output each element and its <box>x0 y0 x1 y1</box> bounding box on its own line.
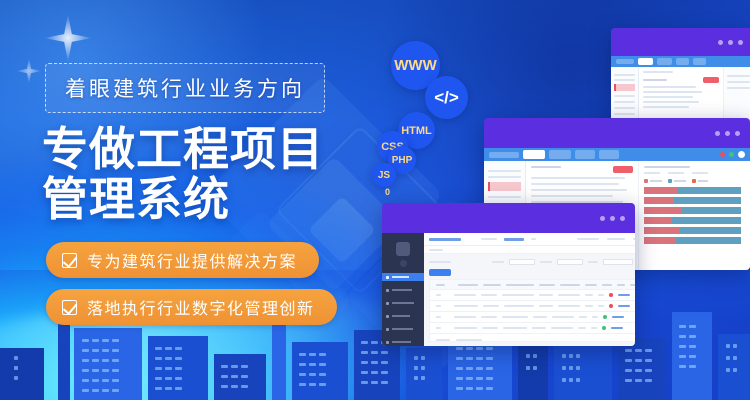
app-logo-chip <box>489 152 519 158</box>
status-badge <box>603 315 607 319</box>
avatar[interactable] <box>738 151 745 158</box>
bubble-code-label: </> <box>434 88 459 108</box>
app-topbar[interactable] <box>484 148 750 161</box>
breadcrumb <box>424 246 635 254</box>
tab-active[interactable] <box>638 58 653 65</box>
sidebar-item-active[interactable] <box>614 84 635 91</box>
table-header-row <box>430 280 635 290</box>
window-dot <box>728 40 733 45</box>
window-dot <box>610 216 615 221</box>
hero-copy: 着眼建筑行业业务方向 专做工程项目 管理系统 专为建筑行业提供解决方案 落地执行… <box>0 0 400 400</box>
primary-action-button[interactable] <box>703 77 719 83</box>
primary-action-button[interactable] <box>613 166 633 173</box>
window-dot <box>600 216 605 221</box>
dashboard-screenshot-front[interactable] <box>382 203 635 346</box>
tab-item[interactable] <box>549 150 571 159</box>
bubble-code-icon: </> <box>425 76 468 119</box>
filter-select[interactable] <box>557 259 583 265</box>
headline-line-2: 管理系统 <box>42 174 372 224</box>
tab-active[interactable] <box>523 150 545 159</box>
app-topbar[interactable] <box>611 56 750 67</box>
table-row[interactable] <box>430 290 635 301</box>
tab-item[interactable] <box>575 150 595 159</box>
row-action-link[interactable] <box>611 327 623 329</box>
feature-pill[interactable]: 落地执行行业数字化管理创新 <box>46 289 337 325</box>
status-badge <box>602 326 606 330</box>
status-badge <box>609 293 613 297</box>
bubble-www-label: WWW <box>394 57 436 74</box>
chart-legend <box>644 179 745 183</box>
window-title-bar <box>484 118 750 148</box>
window-dot <box>725 131 730 136</box>
tab-item[interactable] <box>599 150 619 159</box>
feature-pill[interactable]: 专为建筑行业提供解决方案 <box>46 242 319 278</box>
tab-item[interactable] <box>676 58 689 65</box>
table-row[interactable] <box>430 312 635 323</box>
window-title-bar <box>382 203 635 233</box>
table-footer[interactable] <box>430 334 635 342</box>
status-badge <box>609 304 613 308</box>
app-window <box>382 233 635 346</box>
headline-line-1: 专做工程项目 <box>42 124 372 174</box>
toolbar[interactable] <box>424 269 635 279</box>
tagline-text: 着眼建筑行业业务方向 <box>65 73 305 103</box>
bubble-html-label: HTML <box>401 125 432 137</box>
window-dot <box>715 131 720 136</box>
table-row[interactable] <box>430 301 635 312</box>
row-action-link[interactable] <box>618 294 630 296</box>
app-logo-chip <box>616 59 634 64</box>
checkbox-check-icon <box>62 300 77 315</box>
feature-pill-list: 专为建筑行业提供解决方案 落地执行行业数字化管理创新 <box>46 242 337 336</box>
app-chart-panel <box>638 161 750 270</box>
tab-item[interactable] <box>693 58 706 65</box>
window-dot <box>738 40 743 45</box>
app-main <box>424 233 635 346</box>
notification-badge[interactable] <box>720 152 725 157</box>
promo-banner: WWW </> HTML CSS PHP JS 0 <box>0 0 750 400</box>
tagline-box: 着眼建筑行业业务方向 <box>45 63 325 113</box>
filter-select[interactable] <box>509 259 535 265</box>
status-indicator <box>729 152 734 157</box>
checkbox-check-icon <box>62 253 77 268</box>
sidebar-item-active[interactable] <box>488 182 521 191</box>
window-title-bar <box>611 28 750 56</box>
table-row[interactable] <box>430 323 635 334</box>
app-header[interactable] <box>424 233 635 246</box>
row-action-link[interactable] <box>618 305 630 307</box>
filter-bar[interactable] <box>424 254 635 269</box>
row-action-link[interactable] <box>612 316 624 318</box>
feature-pill-label: 专为建筑行业提供解决方案 <box>87 248 297 272</box>
window-dot <box>735 131 740 136</box>
header-tab-active[interactable] <box>504 238 524 241</box>
data-table[interactable] <box>429 279 635 342</box>
tab-item[interactable] <box>657 58 672 65</box>
window-dot <box>620 216 625 221</box>
page-title: 专做工程项目 管理系统 <box>42 124 372 224</box>
search-input[interactable] <box>603 259 633 265</box>
app-title <box>429 238 461 241</box>
horizontal-bar-chart <box>644 187 745 244</box>
add-button[interactable] <box>429 269 451 276</box>
feature-pill-label: 落地执行行业数字化管理创新 <box>87 295 315 319</box>
window-dot <box>718 40 723 45</box>
